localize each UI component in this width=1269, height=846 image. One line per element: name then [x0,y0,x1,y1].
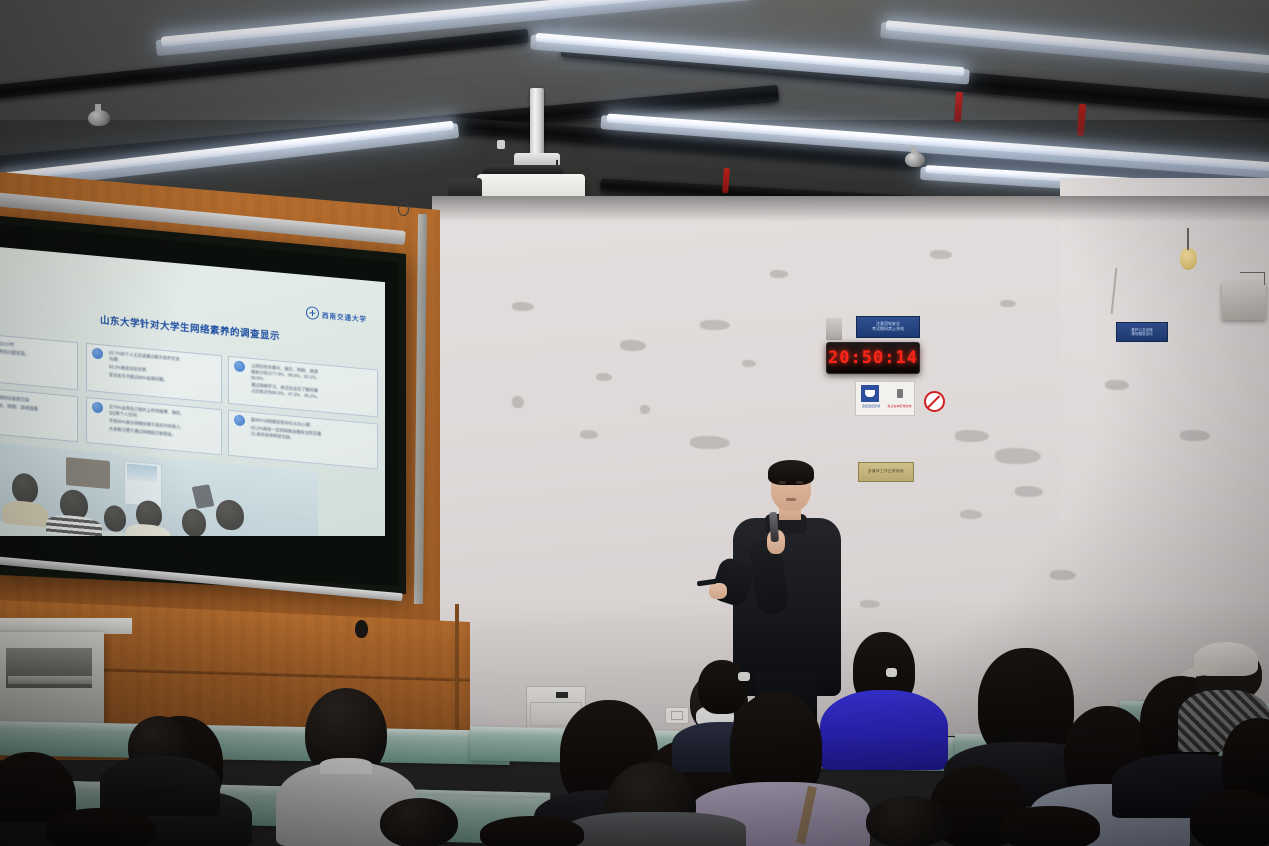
wall-scuff [620,340,646,351]
slide-photo-child [12,472,38,504]
slide-card: 近70%会将自己照片上传到微博、微信、 QQ等个人空间; 不到30%表示网络仅限… [86,397,222,455]
wall-ceiling-shadow [432,196,1269,222]
wall-scuff [770,270,788,278]
slide-photo-child-body [2,499,48,527]
wall-scuff [512,396,524,408]
led-wall-clock: 20:50:14 [826,342,920,374]
slide-photo-child [216,499,244,532]
lectern-keyboard-tray [8,676,92,684]
slide-bullet-icon [234,360,245,372]
pictogram-sign-pair: 监控监控区域 禁止在本区域充电 [855,381,915,416]
university-logo-text: 西南交通大学 [322,309,367,323]
wall-hook [355,620,368,638]
presenter-hand-left [709,583,727,599]
logo-seal-icon [306,306,319,320]
wall-scuff [1105,380,1129,390]
student-head [866,796,952,846]
dome-security-camera [905,152,925,167]
student-head [380,798,458,846]
no-charging-sign-text: 禁止在本区域充电 [886,405,913,408]
wall-scuff [860,600,880,608]
clock-time: 20:50:14 [828,348,918,368]
prohibition-icon-glyph [897,389,903,398]
wall-scuff [1180,430,1210,441]
yellow-sign-text: 多媒体工作正常使用 [868,470,904,474]
projector-mount-pole [530,88,544,156]
wall-scuff [930,250,952,259]
student-head [1000,806,1100,846]
prohibition-icon [924,391,945,412]
student-hair-tie [886,668,897,677]
speaker-wires [1240,272,1265,285]
right-wall-notice-sign: 爱护公共设施 请勿随意涂污 [1116,322,1168,342]
sprinkler-head [497,140,505,149]
student-collar [320,758,372,774]
wall-scuff [690,436,730,449]
bulb-cable [1187,228,1189,250]
slide-header-fragment: 言 [0,263,12,291]
slide-photo-laptop [66,457,110,489]
wall-scuff [1000,300,1016,307]
camera-mount [911,146,917,154]
slide-card: 82.7%的个人主页或通过聊天软件交流 沟通; 93.2%曾经浏览学界; 受访女… [86,343,222,403]
presenter-eye-right [796,481,803,484]
student-body-gray-hoodie [566,812,746,846]
slide-bullet-icon [234,414,245,426]
wall-scuff [640,405,650,414]
student-body [100,756,220,816]
slide-photo-tablet [192,484,215,509]
monitoring-sign-text: 监控监控区域 [858,405,884,408]
wall-junction-box-label [556,692,568,698]
wall-scuff [596,373,612,381]
monitoring-sign: 监控监控区域 [856,382,885,415]
university-logo: 西南交通大学 [306,305,376,326]
lecture-hall-photo: 言 西南交通大学 山东大学针对大学生网络素养的调查显示 天上网超过3小时 络网络… [0,0,1269,846]
wall-scuff [512,302,534,311]
student-hair-tie [738,672,750,681]
student-head [698,660,746,714]
monitoring-icon-glyph [865,390,875,397]
student-body-blue-jacket [820,690,948,770]
clock-bracket [826,318,842,340]
slide-photo-child-body [126,523,170,536]
hanging-light-bulb [1180,248,1197,270]
camera-mount [95,104,101,112]
screen-pull-cord [398,202,409,216]
slide-card: 天上网超过3小时 络网络素养的问题答案。 [0,333,78,390]
wall-scuff [1015,486,1043,497]
slide-photo-child-body [46,513,102,536]
student-head [480,816,584,846]
yellow-notice-sign: 多媒体工作正常使用 [858,462,914,482]
wall-power-outlet-slot [671,711,683,720]
notice-sign-above-clock: 注意用电安全 考试期间禁止充电 [856,316,920,338]
presenter-hair [768,460,814,485]
slide-photo-board-image [127,464,157,483]
slide-card: 示自己上网时间安排欠缺 主因为聊天、购物、游戏观看 [0,387,78,442]
wall-scuff [700,320,730,330]
presenter-eye-left [779,481,786,484]
slide-card: 超40%对网络信息存在从众心理; 62.2%具有一定的网络金融安全防范意 识,其… [228,410,378,470]
slide-photo-child [182,508,206,536]
wall-speaker [1222,282,1266,320]
slide-bullet-icon [92,347,103,359]
presenter-body [733,518,841,696]
student-head [46,808,156,846]
wall-scuff [955,430,989,442]
wall-scuff [1050,570,1076,580]
wall-scuff [742,360,756,367]
slide-card: 上网目的为聊天、娱乐、购物、旅游 赋各分别占77.6%、68.5%、62.1%、… [228,356,378,418]
slide-photo-child [104,505,126,533]
wall-scuff [960,510,982,519]
slide-title: 山东大学针对大学生网络素养的调查显示 [30,306,350,349]
wall-scuff [580,430,598,439]
slide-bullet-icon [92,401,103,413]
presenter-mouth [786,498,796,501]
dome-security-camera [88,110,110,126]
wall-scuff [995,448,1041,464]
no-charging-sign: 禁止在本区域充电 [885,382,914,415]
student-head [1190,790,1269,846]
projected-slide: 言 西南交通大学 山东大学针对大学生网络素养的调查显示 天上网超过3小时 络网络… [0,246,385,536]
slide-surface: 言 西南交通大学 山东大学针对大学生网络素养的调查显示 天上网超过3小时 络网络… [0,246,385,536]
